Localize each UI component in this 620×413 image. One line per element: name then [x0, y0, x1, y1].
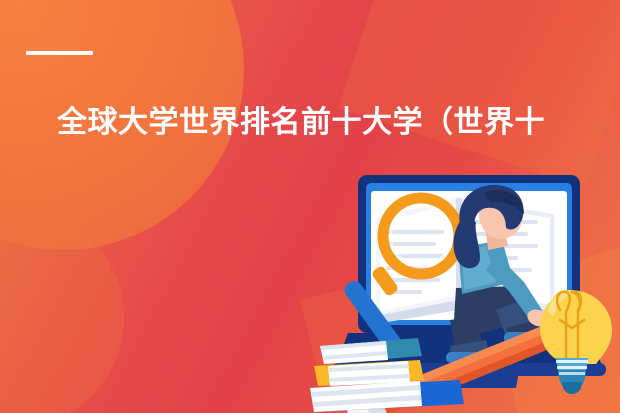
- banner-canvas: 全球大学世界排名前十大学（世界十: [0, 0, 620, 413]
- illustration: [310, 170, 620, 413]
- lightbulb-icon: [540, 290, 612, 394]
- page-title: 全球大学世界排名前十大学（世界十: [57, 104, 620, 142]
- decorative-rule: [26, 51, 93, 55]
